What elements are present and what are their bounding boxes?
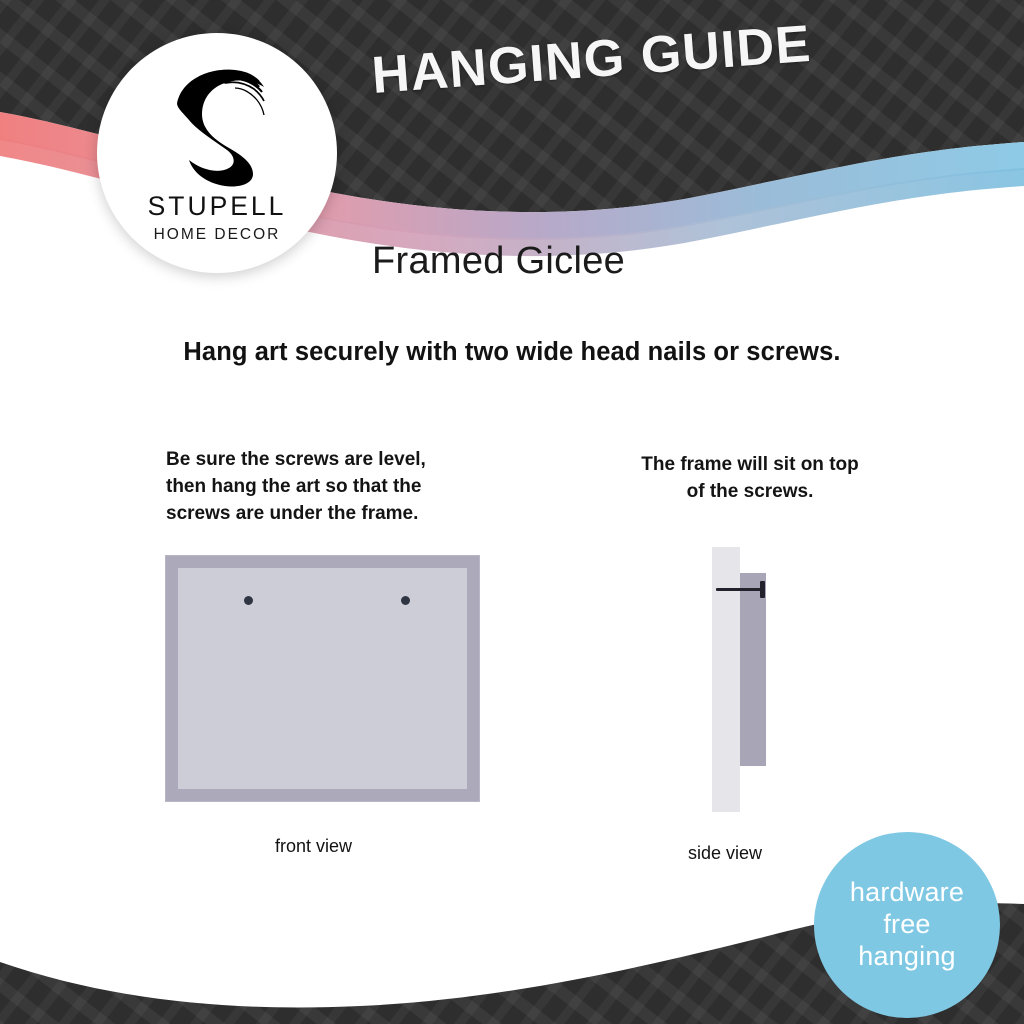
side-view-label: side view — [688, 843, 762, 864]
side-view-screw-head — [760, 581, 765, 598]
front-view-caption-line-2: then hang the art so that the — [166, 474, 476, 501]
side-view-caption-line-1: The frame will sit on top — [600, 452, 900, 479]
front-view-mat — [178, 568, 467, 789]
front-view-caption-line-1: Be sure the screws are level, — [166, 447, 476, 474]
side-view-screw-shaft — [716, 588, 762, 591]
page-title: HANGING GUIDE — [370, 14, 814, 106]
front-view-label: front view — [275, 836, 352, 857]
badge-line-2: free — [883, 909, 930, 941]
side-view-caption-line-2: of the screws. — [600, 479, 900, 506]
front-view-caption-line-3: screws are under the frame. — [166, 501, 476, 528]
side-view-frame — [740, 573, 766, 766]
logo-brand-name: STUPELL — [148, 193, 287, 220]
hanging-guide-infographic: STUPELL HOME DECOR HANGING GUIDE Framed … — [0, 0, 1024, 1024]
side-view-wall — [712, 547, 740, 812]
main-instruction-text: Hang art securely with two wide head nai… — [0, 338, 1024, 367]
side-view-caption: The frame will sit on top of the screws. — [600, 452, 900, 506]
stupell-swirl-mark — [165, 60, 269, 188]
front-view-frame-diagram — [165, 555, 480, 802]
badge-line-3: hanging — [858, 941, 956, 973]
product-type-title: Framed Giclee — [372, 240, 625, 283]
logo-tagline: HOME DECOR — [154, 227, 281, 243]
screw-dot-left — [244, 596, 253, 605]
brand-logo-badge: STUPELL HOME DECOR — [97, 33, 337, 273]
badge-line-1: hardware — [850, 877, 964, 909]
hardware-free-hanging-badge: hardware free hanging — [814, 832, 1000, 1018]
screw-dot-right — [401, 596, 410, 605]
front-view-caption: Be sure the screws are level, then hang … — [166, 447, 476, 528]
